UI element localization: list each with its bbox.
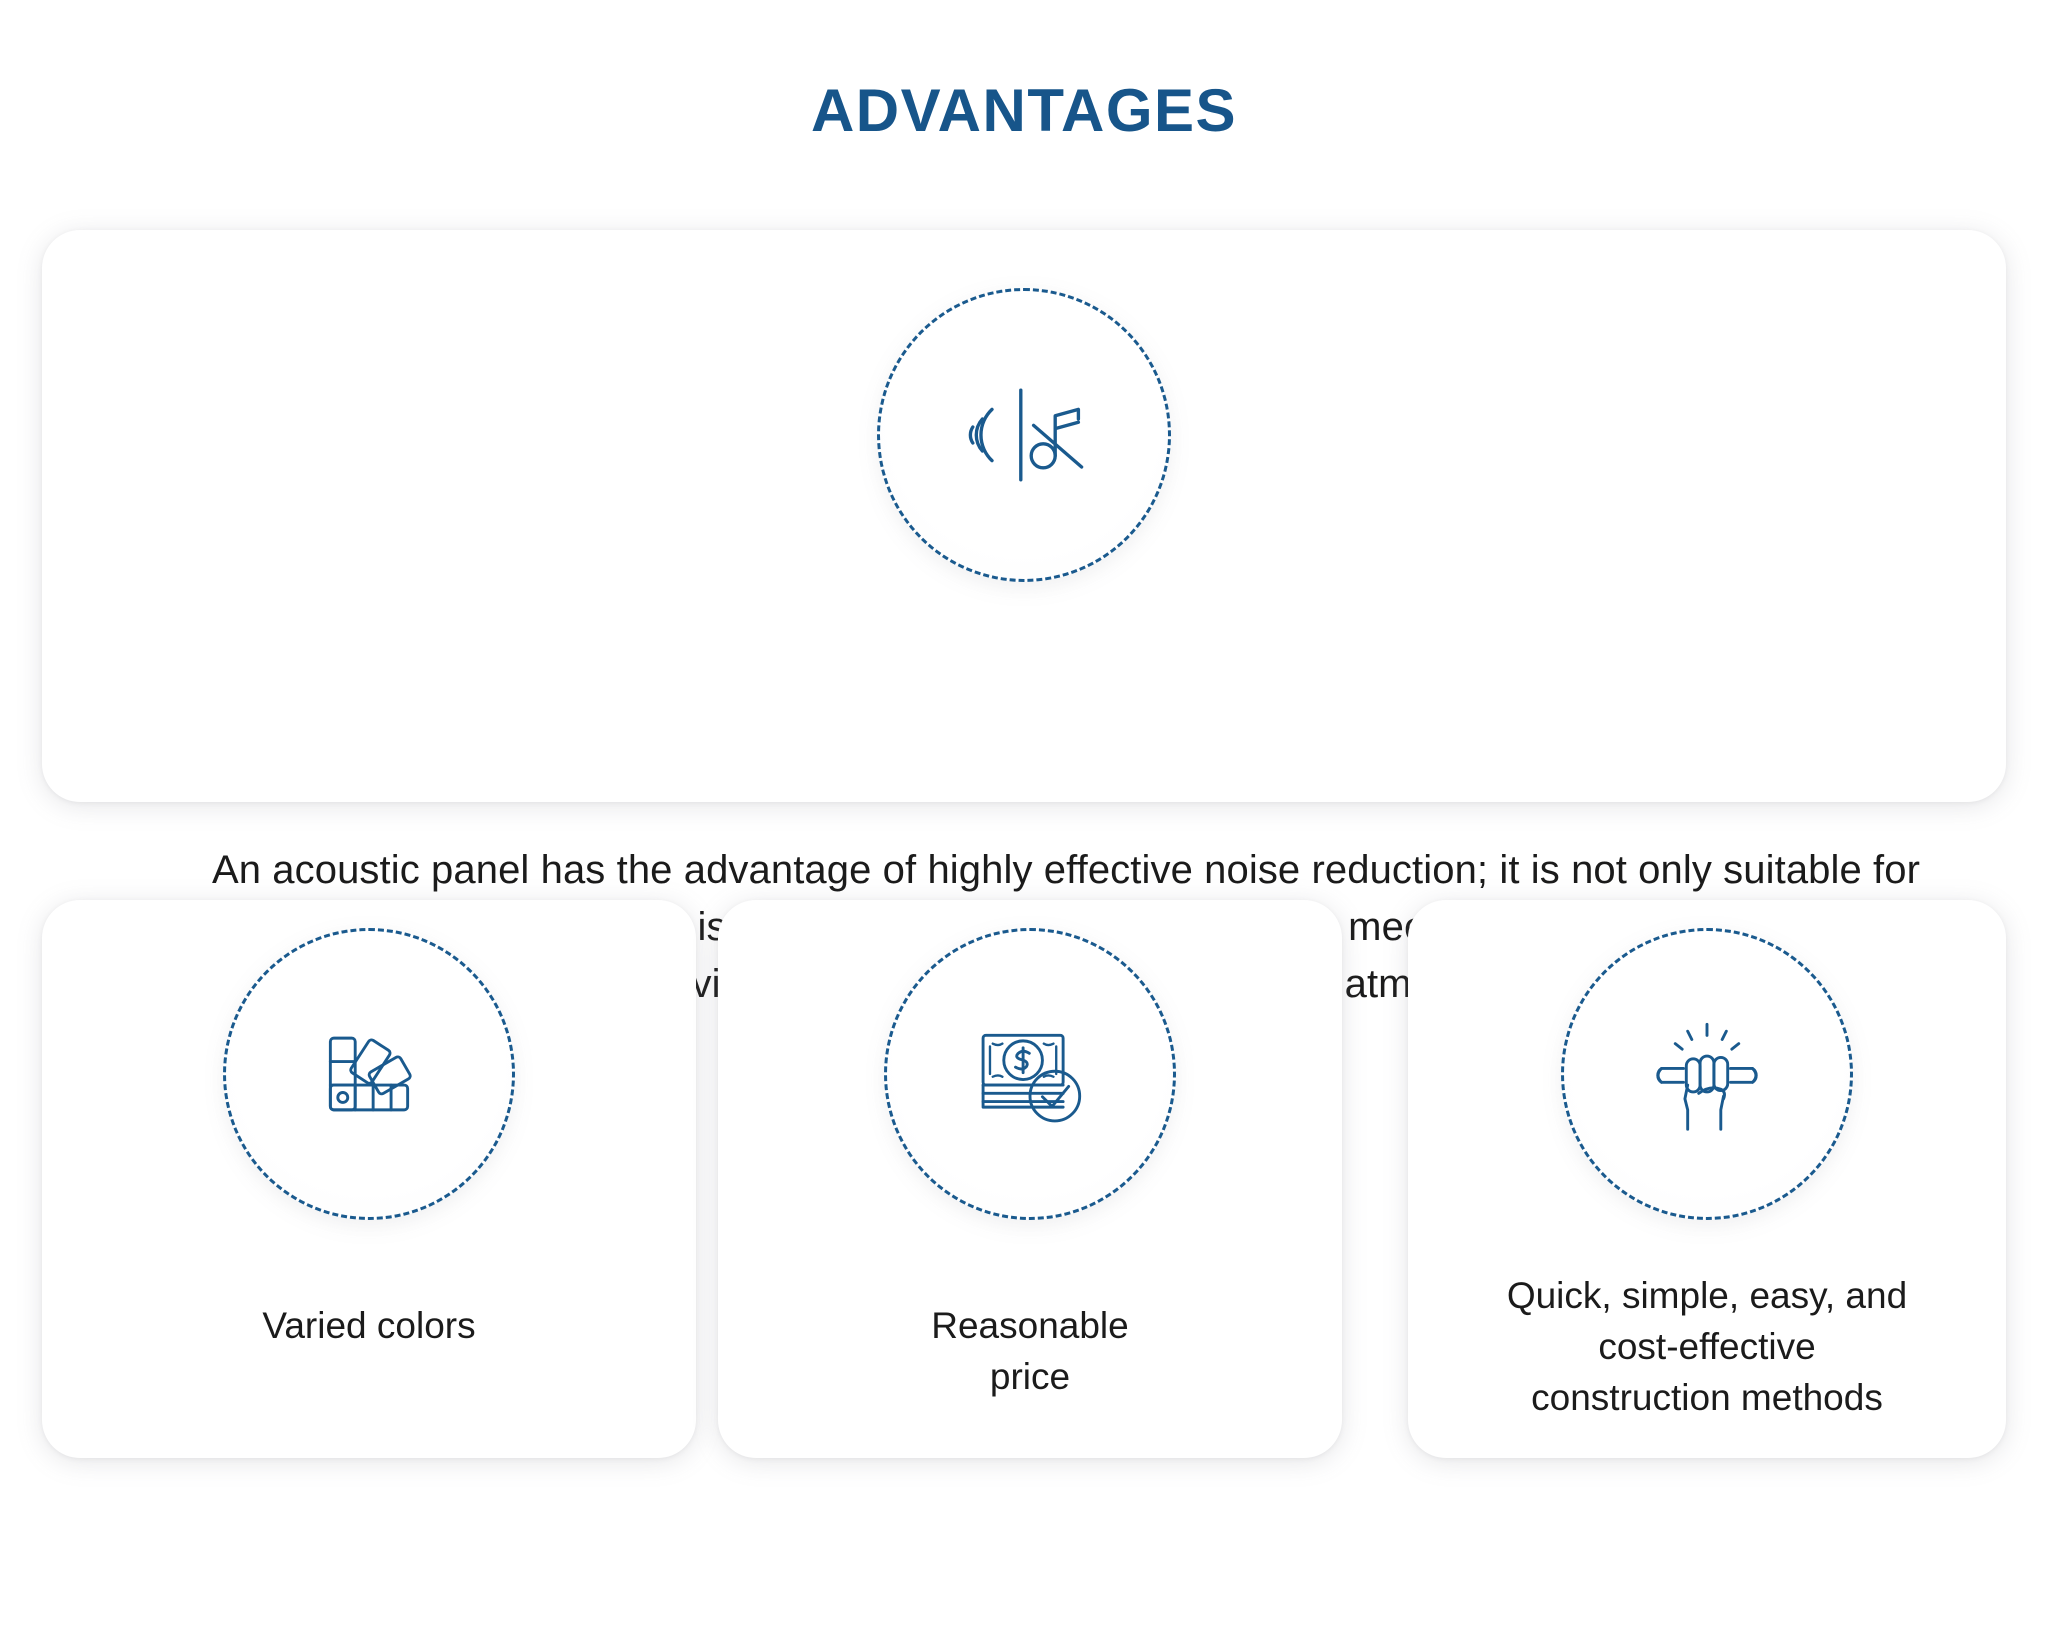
feature-caption: Varied colors bbox=[42, 1300, 696, 1351]
fist-wrench-icon bbox=[1561, 928, 1853, 1220]
money-check-icon bbox=[884, 928, 1176, 1220]
feature-icon-wrap bbox=[1408, 928, 2006, 1220]
feature-icon-wrap bbox=[718, 928, 1342, 1220]
noise-reduction-icon bbox=[877, 288, 1171, 582]
hero-icon-wrap bbox=[42, 288, 2006, 582]
feature-card-varied-colors: Varied colors bbox=[42, 900, 696, 1458]
advantages-page: ADVANTAGES An bbox=[0, 0, 2048, 1650]
feature-caption: Reasonable price bbox=[718, 1300, 1342, 1402]
hero-card: An acoustic panel has the advantage of h… bbox=[42, 230, 2006, 802]
feature-icon-wrap bbox=[42, 928, 696, 1220]
feature-caption: Quick, simple, easy, and cost-effective … bbox=[1408, 1270, 2006, 1423]
page-title: ADVANTAGES bbox=[0, 78, 2048, 144]
feature-card-reasonable-price: Reasonable price bbox=[718, 900, 1342, 1458]
feature-card-construction-methods: Quick, simple, easy, and cost-effective … bbox=[1408, 900, 2006, 1458]
color-palette-icon bbox=[223, 928, 515, 1220]
